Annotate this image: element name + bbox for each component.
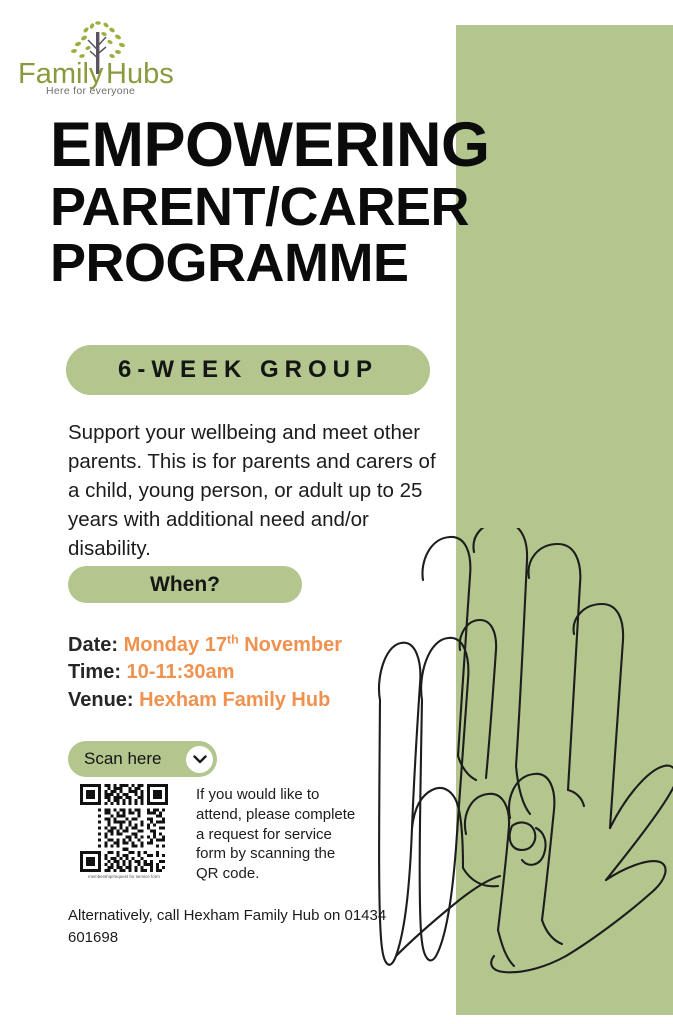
when-badge: When? <box>68 566 302 603</box>
logo-tagline: Here for everyone <box>46 85 135 96</box>
qr-code-caption: membership/request for service form <box>80 874 168 879</box>
date-ordinal-suffix: th <box>227 632 239 646</box>
qr-code-icon[interactable] <box>80 784 168 872</box>
six-week-group-badge: 6-WEEK GROUP <box>66 345 430 395</box>
detail-row-venue: Venue: Hexham Family Hub <box>68 687 342 714</box>
detail-value-time: 10-11:30am <box>127 661 235 683</box>
headline-line-2: PARENT/CARER <box>50 182 650 233</box>
detail-row-time: Time: 10-11:30am <box>68 659 342 686</box>
event-details: Date: Monday 17th November Time: 10-11:3… <box>68 632 342 714</box>
headline-line-1: EMPOWERING <box>50 116 650 176</box>
qr-code-block[interactable]: membership/request for service form <box>80 784 168 879</box>
poster-canvas: Family Hubs Here for everyone EMPOWERING… <box>0 0 673 1024</box>
detail-row-date: Date: Monday 17th November <box>68 632 342 659</box>
detail-label-date: Date: <box>68 634 118 656</box>
detail-value-venue: Hexham Family Hub <box>139 689 330 711</box>
intro-paragraph: Support your wellbeing and meet other pa… <box>68 418 443 564</box>
headline-line-3: PROGRAMME <box>50 238 650 289</box>
detail-value-date: Monday 17th November <box>124 634 342 656</box>
detail-label-time: Time: <box>68 661 121 683</box>
qr-instruction-text: If you would like to attend, please comp… <box>196 785 361 884</box>
alternative-contact-text: Alternatively, call Hexham Family Hub on… <box>68 905 398 949</box>
family-hubs-logo: Family Hubs Here for everyone <box>14 20 184 96</box>
chevron-down-icon <box>186 746 213 773</box>
detail-label-venue: Venue: <box>68 689 134 711</box>
scan-here-badge[interactable]: Scan here <box>68 741 217 777</box>
page-title: EMPOWERING PARENT/CARER PROGRAMME <box>50 116 650 289</box>
scan-here-label: Scan here <box>84 749 186 769</box>
